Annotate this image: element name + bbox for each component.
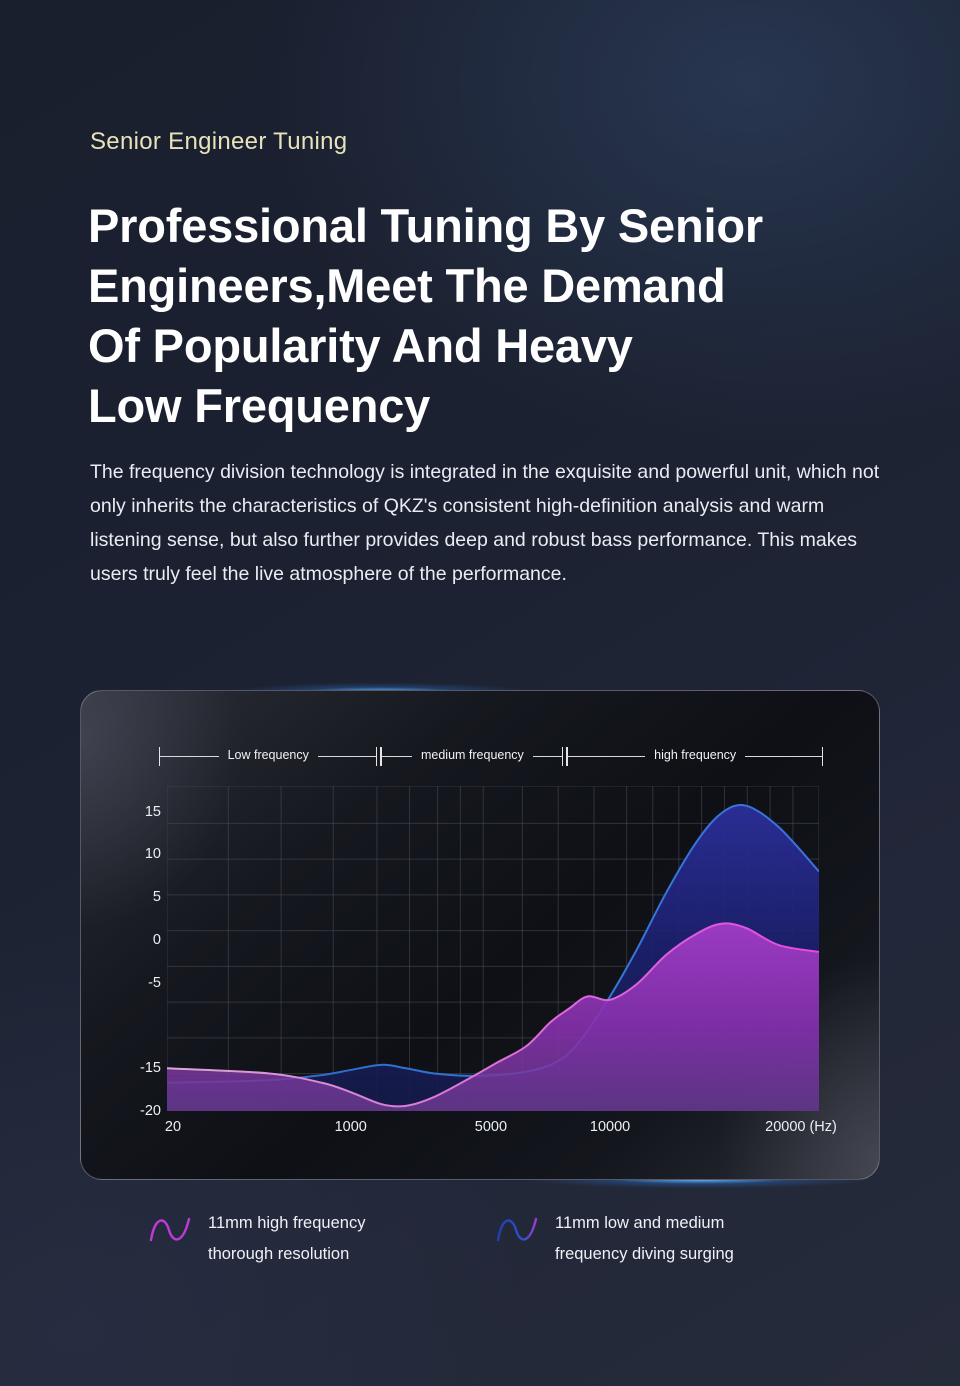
- x-axis-tick-label: 1000: [335, 1119, 367, 1135]
- band-marker-3: high frequency: [567, 743, 823, 769]
- frequency-response-svg: [167, 786, 819, 1111]
- chart-legend: 11mm high frequency thorough resolution …: [148, 1208, 908, 1288]
- y-axis-labels: 151050-5-15-20: [99, 786, 161, 1111]
- legend-line-1: 11mm high frequency: [208, 1208, 365, 1239]
- plot-series: [167, 805, 819, 1111]
- y-axis-tick-label: 5: [153, 889, 161, 905]
- x-axis-tick-label: 10000: [590, 1119, 630, 1135]
- band-end-cap: [562, 747, 563, 766]
- y-axis-tick-label: 10: [145, 846, 161, 862]
- page-root: Senior Engineer Tuning Professional Tuni…: [0, 0, 960, 1386]
- band-end-cap: [376, 747, 377, 766]
- frequency-chart-card: Low frequencymedium frequencyhigh freque…: [80, 690, 880, 1180]
- band-marker-2: medium frequency: [381, 743, 567, 769]
- chart-card-surface: Low frequencymedium frequencyhigh freque…: [80, 690, 880, 1180]
- band-row: Low frequencymedium frequencyhigh freque…: [159, 743, 823, 769]
- sine-wave-icon: [148, 1210, 194, 1250]
- band-marker-1: Low frequency: [159, 743, 381, 769]
- band-rule: [745, 756, 822, 757]
- band-rule: [160, 756, 219, 757]
- legend-item-high-frequency: 11mm high frequency thorough resolution: [148, 1208, 365, 1270]
- x-axis-tick-label: 20: [165, 1119, 181, 1135]
- headline-line-1: Professional Tuning By Senior: [88, 196, 888, 256]
- series-area: [167, 923, 819, 1111]
- headline-line-3: Of Popularity And Heavy: [88, 316, 888, 376]
- band-end-cap: [822, 747, 823, 766]
- band-rule: [382, 756, 412, 757]
- band-rule: [318, 756, 377, 757]
- legend-line-1: 11mm low and medium: [555, 1208, 734, 1239]
- legend-item-low-medium-frequency: 11mm low and medium frequency diving sur…: [495, 1208, 734, 1270]
- y-axis-tick-label: -5: [148, 975, 161, 991]
- frequency-band-ruler: Low frequencymedium frequencyhigh freque…: [159, 743, 823, 769]
- y-axis-tick-label: 0: [153, 932, 161, 948]
- legend-line-2: frequency diving surging: [555, 1239, 734, 1270]
- frequency-response-plot: [167, 786, 819, 1111]
- band-label: high frequency: [645, 748, 745, 762]
- band-rule: [533, 756, 563, 757]
- eyebrow-label: Senior Engineer Tuning: [90, 128, 347, 156]
- sine-wave-icon: [495, 1210, 541, 1250]
- y-axis-tick-label: -15: [140, 1060, 161, 1076]
- headline-line-4: Low Frequency: [88, 376, 888, 436]
- legend-item-label: 11mm high frequency thorough resolution: [208, 1208, 365, 1270]
- page-title: Professional Tuning By Senior Engineers,…: [88, 196, 888, 436]
- band-label: medium frequency: [412, 748, 533, 762]
- x-axis-labels: 20100050001000020000 (Hz): [141, 1119, 841, 1143]
- x-axis-tick-label: 5000: [475, 1119, 507, 1135]
- headline-line-2: Engineers,Meet The Demand: [88, 256, 888, 316]
- legend-item-label: 11mm low and medium frequency diving sur…: [555, 1208, 734, 1270]
- x-axis-tick-label: 20000 (Hz): [765, 1119, 837, 1135]
- legend-line-2: thorough resolution: [208, 1239, 365, 1270]
- y-axis-tick-label: 15: [145, 804, 161, 820]
- y-axis-tick-label: -20: [140, 1103, 161, 1119]
- band-label: Low frequency: [219, 748, 318, 762]
- body-paragraph: The frequency division technology is int…: [90, 455, 880, 591]
- band-rule: [568, 756, 645, 757]
